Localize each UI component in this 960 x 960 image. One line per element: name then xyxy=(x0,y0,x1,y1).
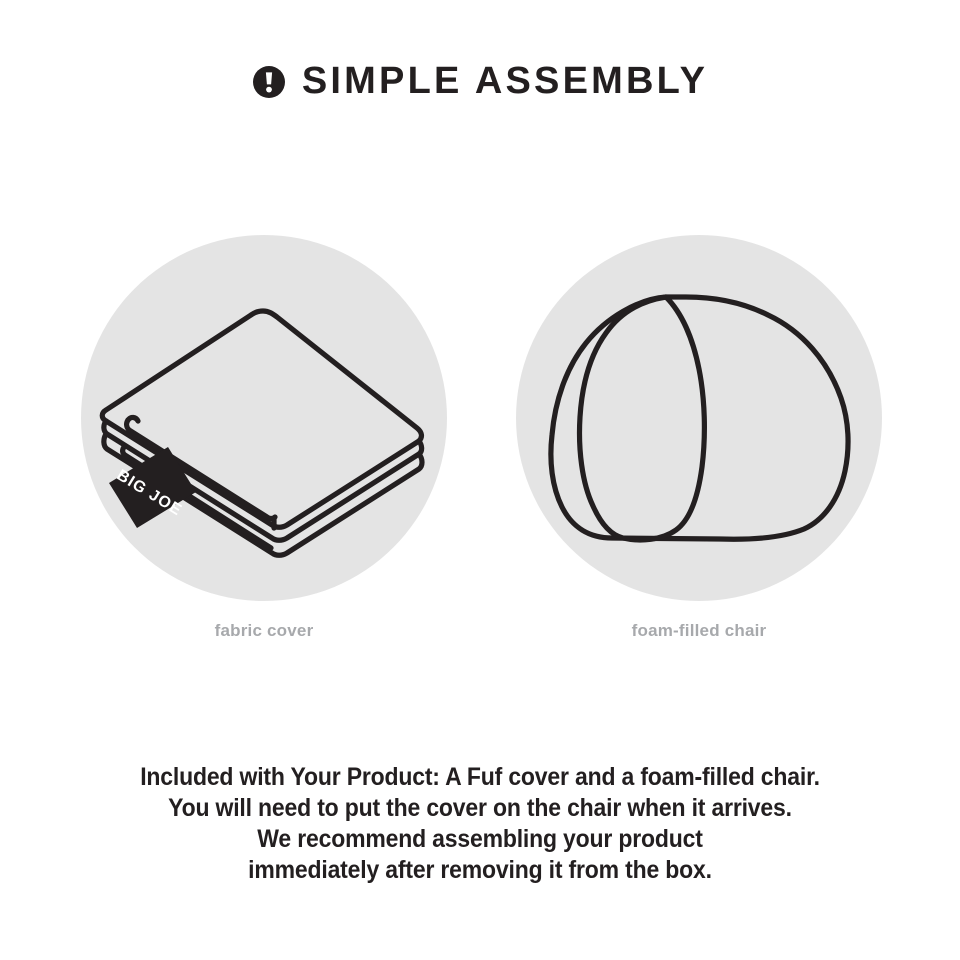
caption-foam-filled-chair: foam-filled chair xyxy=(516,621,882,641)
illustration-row: BIG JOE fabric cover foam-filled chair xyxy=(0,235,960,655)
footer-line-2: You will need to put the cover on the ch… xyxy=(38,793,921,824)
caption-fabric-cover: fabric cover xyxy=(81,621,447,641)
folded-fabric-cover-illustration: BIG JOE xyxy=(81,235,447,601)
page-title: SIMPLE ASSEMBLY xyxy=(302,62,708,100)
footer-copy: Included with Your Product: A Fuf cover … xyxy=(38,762,921,886)
illustration-foam-filled-chair: foam-filled chair xyxy=(516,235,884,655)
footer-line-4: immediately after removing it from the b… xyxy=(38,855,921,886)
exclamation-circle-icon xyxy=(252,65,286,99)
page-title-row: SIMPLE ASSEMBLY xyxy=(0,62,960,100)
illustration-fabric-cover: BIG JOE fabric cover xyxy=(81,235,449,655)
footer-line-1: Included with Your Product: A Fuf cover … xyxy=(38,762,921,793)
simple-assembly-infographic: SIMPLE ASSEMBLY xyxy=(0,0,960,960)
foam-filled-chair-illustration xyxy=(516,235,882,601)
footer-line-3: We recommend assembling your product xyxy=(38,824,921,855)
